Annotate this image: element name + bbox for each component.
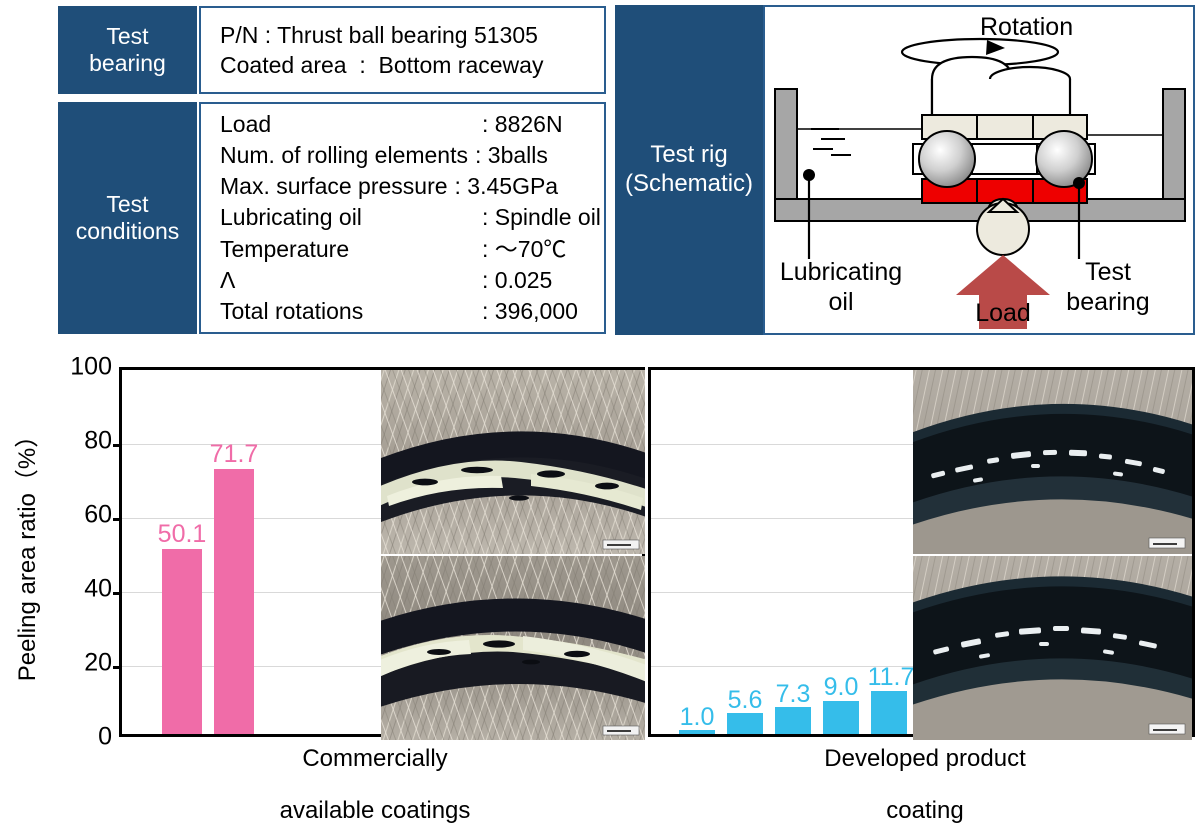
test-bearing-label-l2: bearing [1033, 287, 1183, 317]
condition-value: : 3balls [475, 140, 548, 171]
test-bearing-table: Test bearing P/N : Thrust ball bearing 5… [58, 6, 606, 94]
load-label: Load [953, 299, 1053, 328]
y-tickmark-20 [113, 666, 122, 669]
test-rig-panel: Test rig (Schematic) [615, 5, 1195, 335]
test-bearing-line-1: P/N : Thrust ball bearing 51305 [220, 20, 604, 50]
x-category-developed: Developed product coating [750, 747, 1100, 823]
condition-key: Λ [220, 265, 482, 296]
condition-row: Load : 8826N [220, 109, 604, 140]
x-category-commercial-l2: available coatings [200, 799, 550, 823]
bar-developed-2 [727, 713, 763, 734]
test-bearing-label-l1: Test [1033, 257, 1183, 287]
x-category-commercial-l1: Commercially [302, 745, 447, 772]
y-tick-label: 20 [54, 649, 112, 678]
condition-row: Num. of rolling elements : 3balls [220, 140, 604, 171]
test-rig-diagram: Rotation Lubricating oil Test bearing Lo… [763, 5, 1195, 335]
condition-value: : Spindle oil [482, 202, 601, 233]
test-rig-header-l2: (Schematic) [625, 170, 753, 199]
photo-developed-2 [913, 556, 1192, 740]
condition-key: Max. surface pressure [220, 171, 448, 202]
condition-row: Lubricating oil : Spindle oil [220, 202, 604, 233]
condition-value: : 8826N [482, 109, 563, 140]
photo-commercial-2 [381, 556, 645, 740]
y-axis-ticks: 100 80 60 40 20 0 [48, 345, 112, 831]
rotation-label: Rotation [980, 13, 1073, 42]
test-bearing-content: P/N : Thrust ball bearing 51305 Coated a… [199, 6, 606, 94]
y-axis-title: Peeling area ratio（%） [8, 387, 42, 717]
bar-label-developed-4: 9.0 [824, 673, 859, 702]
y-tick-label: 40 [54, 575, 112, 604]
test-bearing-header-l1: Test bearing [89, 23, 166, 77]
bar-developed-5 [871, 691, 907, 734]
condition-key: Load [220, 109, 482, 140]
bar-developed-4 [823, 701, 859, 734]
bar-commercial-2 [214, 469, 254, 734]
lubricating-oil-label-l2: oil [763, 287, 921, 317]
bar-label-developed-1: 1.0 [680, 703, 715, 732]
test-bearing-label: Test bearing [1033, 257, 1183, 317]
condition-row: Total rotations : 396,000 [220, 296, 604, 327]
lubricating-oil-label-l1: Lubricating [763, 257, 921, 287]
y-tickmark-60 [113, 518, 122, 521]
bar-label-developed-3: 7.3 [776, 680, 811, 709]
x-category-developed-l2: coating [750, 799, 1100, 823]
condition-value: : 3.45GPa [455, 171, 559, 202]
condition-row: Λ : 0.025 [220, 265, 604, 296]
photo-commercial-1 [381, 370, 645, 554]
x-category-commercial: Commercially available coatings [200, 747, 550, 823]
bar-label-developed-5: 11.7 [868, 663, 915, 692]
test-bearing-line-2: Coated area : Bottom raceway [220, 50, 604, 80]
condition-key: Num. of rolling elements [220, 140, 468, 171]
y-tickmark-40 [113, 592, 122, 595]
bar-label-commercial-2: 71.7 [210, 440, 259, 469]
y-tick-label: 0 [54, 723, 112, 752]
test-conditions-table: Test conditions Load : 8826N Num. of rol… [58, 102, 606, 334]
test-bearing-header: Test bearing [58, 6, 197, 94]
plot-area-developed: 1.0 5.6 7.3 9.0 11.7 [648, 367, 1195, 737]
plot-area-commercial: 50.1 71.7 [119, 367, 645, 737]
condition-row: Temperature : ～70℃ [220, 234, 604, 265]
condition-value: : 0.025 [482, 265, 552, 296]
test-rig-header: Test rig (Schematic) [615, 5, 763, 335]
test-conditions-header-label: Test conditions [76, 191, 180, 245]
y-tickmark-80 [113, 444, 122, 447]
bar-developed-3 [775, 707, 811, 734]
condition-key: Temperature [220, 234, 482, 265]
x-category-developed-l1: Developed product [824, 745, 1025, 772]
bar-label-developed-2: 5.6 [728, 686, 763, 715]
condition-row: Max. surface pressure : 3.45GPa [220, 171, 604, 202]
condition-key: Lubricating oil [220, 202, 482, 233]
y-tick-label: 60 [54, 501, 112, 530]
test-conditions-header: Test conditions [58, 102, 197, 334]
photo-developed-1 [913, 370, 1192, 554]
test-rig-header-l1: Test rig [650, 141, 727, 170]
test-conditions-content: Load : 8826N Num. of rolling elements : … [199, 102, 606, 334]
y-tick-label: 80 [54, 427, 112, 456]
condition-value: : ～70℃ [482, 234, 566, 265]
bar-commercial-1 [162, 549, 202, 734]
condition-value: : 396,000 [482, 296, 578, 327]
condition-key: Total rotations [220, 296, 482, 327]
bar-label-commercial-1: 50.1 [158, 520, 207, 549]
lubricating-oil-label: Lubricating oil [763, 257, 921, 317]
peeling-area-chart: Peeling area ratio（%） 100 80 60 40 20 0 … [0, 345, 1200, 831]
y-tick-label: 100 [54, 353, 112, 382]
